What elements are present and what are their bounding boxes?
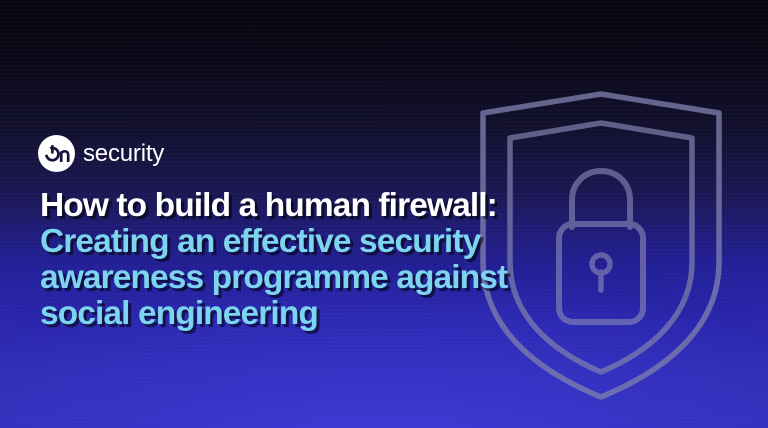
headline-line-2: Creating an effective security — [40, 224, 700, 260]
blog-hero-banner: security How to build a human firewall: … — [0, 0, 768, 428]
headline-line-1: How to build a human firewall: — [40, 188, 700, 224]
headline-line-3: awareness programme against — [40, 260, 700, 296]
power-button-icon — [38, 135, 75, 172]
page-title: How to build a human firewall: Creating … — [40, 188, 700, 332]
logo-wordmark: security — [83, 142, 164, 166]
onsecurity-logo[interactable]: security — [38, 135, 164, 172]
headline-line-4: social engineering — [40, 296, 700, 332]
